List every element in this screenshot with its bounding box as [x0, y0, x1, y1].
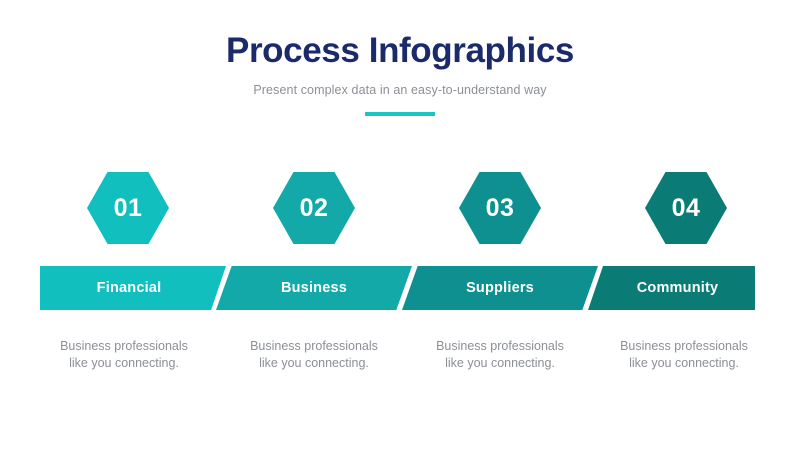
- process-step-3[interactable]: 03 Suppliers Business professionals like…: [407, 172, 593, 412]
- process-step-4[interactable]: 04 Community Business professionals like…: [593, 172, 779, 412]
- step-3-description: Business professionals like you connecti…: [407, 338, 593, 372]
- hexagon-icon[interactable]: 02: [273, 172, 355, 244]
- step-1-description: Business professionals like you connecti…: [31, 338, 217, 372]
- step-number: 04: [672, 196, 701, 221]
- description-line-1: Business professionals: [31, 338, 217, 355]
- step-2-description: Business professionals like you connecti…: [221, 338, 407, 372]
- step-4-description: Business professionals like you connecti…: [591, 338, 777, 372]
- description-line-2: like you connecting.: [591, 355, 777, 372]
- step-4-hexagon-wrap: 04: [593, 172, 779, 244]
- step-3-hexagon-wrap: 03: [407, 172, 593, 244]
- hexagon-icon[interactable]: 03: [459, 172, 541, 244]
- header-block: Process Infographics Present complex dat…: [0, 30, 800, 116]
- step-label: Business: [281, 279, 347, 297]
- step-1-hexagon-wrap: 01: [35, 172, 221, 244]
- step-1-label-bar[interactable]: Financial: [40, 266, 226, 310]
- description-line-2: like you connecting.: [407, 355, 593, 372]
- step-label: Suppliers: [466, 279, 534, 297]
- step-4-label-bar[interactable]: Community: [588, 266, 755, 310]
- step-3-label-bar[interactable]: Suppliers: [402, 266, 598, 310]
- hexagon-icon[interactable]: 01: [87, 172, 169, 244]
- step-2-hexagon-wrap: 02: [221, 172, 407, 244]
- step-label: Community: [637, 279, 719, 297]
- slide-canvas: Process Infographics Present complex dat…: [0, 0, 800, 450]
- description-line-1: Business professionals: [591, 338, 777, 355]
- step-number: 03: [486, 196, 515, 221]
- page-title: Process Infographics: [0, 30, 800, 72]
- description-line-1: Business professionals: [221, 338, 407, 355]
- process-step-2[interactable]: 02 Business Business professionals like …: [221, 172, 407, 412]
- step-label: Financial: [97, 279, 162, 297]
- description-line-1: Business professionals: [407, 338, 593, 355]
- step-number: 01: [114, 196, 143, 221]
- description-line-2: like you connecting.: [221, 355, 407, 372]
- process-steps-row: 01 Financial Business professionals like…: [0, 172, 800, 412]
- step-number: 02: [300, 196, 329, 221]
- step-2-label-bar[interactable]: Business: [216, 266, 412, 310]
- page-subtitle: Present complex data in an easy-to-under…: [0, 82, 800, 98]
- description-line-2: like you connecting.: [31, 355, 217, 372]
- hexagon-icon[interactable]: 04: [645, 172, 727, 244]
- title-accent-rule: [365, 112, 435, 116]
- process-step-1[interactable]: 01 Financial Business professionals like…: [35, 172, 221, 412]
